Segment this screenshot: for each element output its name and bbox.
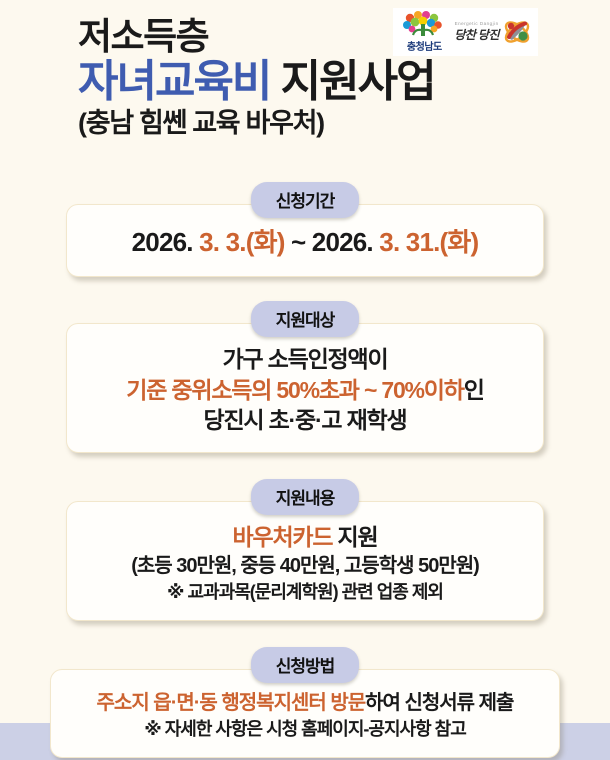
text-line: 가구 소득인정액이 xyxy=(81,344,529,375)
plain-text: 당진시 초·중·고 재학생 xyxy=(204,407,407,433)
plain-text: (초등 30만원, 중등 40만원, 고등학생 50만원) xyxy=(131,555,479,577)
text-line: 주소지 읍·면·동 행정복지센터 방문하여 신청서류 제출 xyxy=(65,690,545,717)
accent-text: 기준 중위소득의 50%초과 ~ 70%이하 xyxy=(126,377,463,403)
section-lines-period: 2026. 3. 3.(화) ~ 2026. 3. 31.(화) xyxy=(81,225,529,260)
accent-text: 3. 31.(화) xyxy=(379,227,478,257)
dangjin-logo-kor-label: 당찬 당진 xyxy=(454,26,499,43)
dangjin-emblem-icon xyxy=(501,17,533,47)
poster-header: 충청남도 Energetic Dangjin 당찬 당진 저소득층 xyxy=(0,0,610,160)
accent-text: 3. 3.(화) xyxy=(199,227,284,257)
section-method: 신청방법 주소지 읍·면·동 행정복지센터 방문하여 신청서류 제출※ 자세한 … xyxy=(50,647,560,758)
section-target: 지원대상 가구 소득인정액이기준 중위소득의 50%초과 ~ 70%이하인당진시… xyxy=(66,301,544,453)
dangjin-logo: Energetic Dangjin 당찬 당진 xyxy=(454,17,533,47)
section-badge-method: 신청방법 xyxy=(251,647,359,683)
plain-text: ~ 2026. xyxy=(285,227,380,257)
title-highlight: 자녀교육비 xyxy=(78,57,270,106)
section-lines-content: 바우처카드 지원(초등 30만원, 중등 40만원, 고등학생 50만원)※ 교… xyxy=(81,522,529,604)
plain-text: ※ 자세한 사항은 시청 홈페이지-공지사항 참고 xyxy=(144,719,466,739)
province-emblem-icon xyxy=(401,11,447,37)
title-line-2-rest: 지원사업 xyxy=(270,57,434,106)
section-badge-period: 신청기간 xyxy=(251,182,359,218)
title-subtitle: (충남 힘쎈 교육 바우처) xyxy=(78,107,610,141)
dangjin-logo-words: Energetic Dangjin 당찬 당진 xyxy=(454,21,499,43)
chungcheongnam-do-logo: 충청남도 xyxy=(398,11,450,53)
accent-text: 주소지 읍·면·동 행정복지센터 방문 xyxy=(97,692,366,714)
section-card-content: 바우처카드 지원(초등 30만원, 중등 40만원, 고등학생 50만원)※ 교… xyxy=(66,501,544,621)
text-line: ※ 교과과목(문리계학원) 관련 업종 제외 xyxy=(81,580,529,604)
plain-text: 인 xyxy=(464,377,484,403)
text-line: 기준 중위소득의 50%초과 ~ 70%이하인 xyxy=(81,375,529,406)
text-line: 바우처카드 지원 xyxy=(81,522,529,553)
section-lines-target: 가구 소득인정액이기준 중위소득의 50%초과 ~ 70%이하인당진시 초·중·… xyxy=(81,344,529,436)
plain-text: 하여 신청서류 제출 xyxy=(365,692,513,714)
plain-text: 가구 소득인정액이 xyxy=(223,346,388,372)
section-content: 지원내용 바우처카드 지원(초등 30만원, 중등 40만원, 고등학생 50만… xyxy=(66,479,544,621)
text-line: (초등 30만원, 중등 40만원, 고등학생 50만원) xyxy=(81,553,529,580)
logo-group: 충청남도 Energetic Dangjin 당찬 당진 xyxy=(393,8,538,56)
section-card-target: 가구 소득인정액이기준 중위소득의 50%초과 ~ 70%이하인당진시 초·중·… xyxy=(66,323,544,453)
text-line: ※ 자세한 사항은 시청 홈페이지-공지사항 참고 xyxy=(65,717,545,741)
province-logo-label: 충청남도 xyxy=(407,38,442,53)
text-line: 2026. 3. 3.(화) ~ 2026. 3. 31.(화) xyxy=(81,225,529,260)
poster: 충청남도 Energetic Dangjin 당찬 당진 저소득층 xyxy=(0,0,610,760)
title-line-2: 자녀교육비 지원사업 xyxy=(78,57,610,106)
section-badge-target: 지원대상 xyxy=(251,301,359,337)
section-lines-method: 주소지 읍·면·동 행정복지센터 방문하여 신청서류 제출※ 자세한 사항은 시… xyxy=(65,690,545,741)
section-badge-content: 지원내용 xyxy=(251,479,359,515)
text-line: 당진시 초·중·고 재학생 xyxy=(81,405,529,436)
plain-text: 2026. xyxy=(132,227,200,257)
plain-text: 지원 xyxy=(332,524,377,550)
accent-text: 바우처카드 xyxy=(233,524,333,550)
plain-text: ※ 교과과목(문리계학원) 관련 업종 제외 xyxy=(167,582,443,602)
section-period: 신청기간 2026. 3. 3.(화) ~ 2026. 3. 31.(화) xyxy=(66,182,544,277)
